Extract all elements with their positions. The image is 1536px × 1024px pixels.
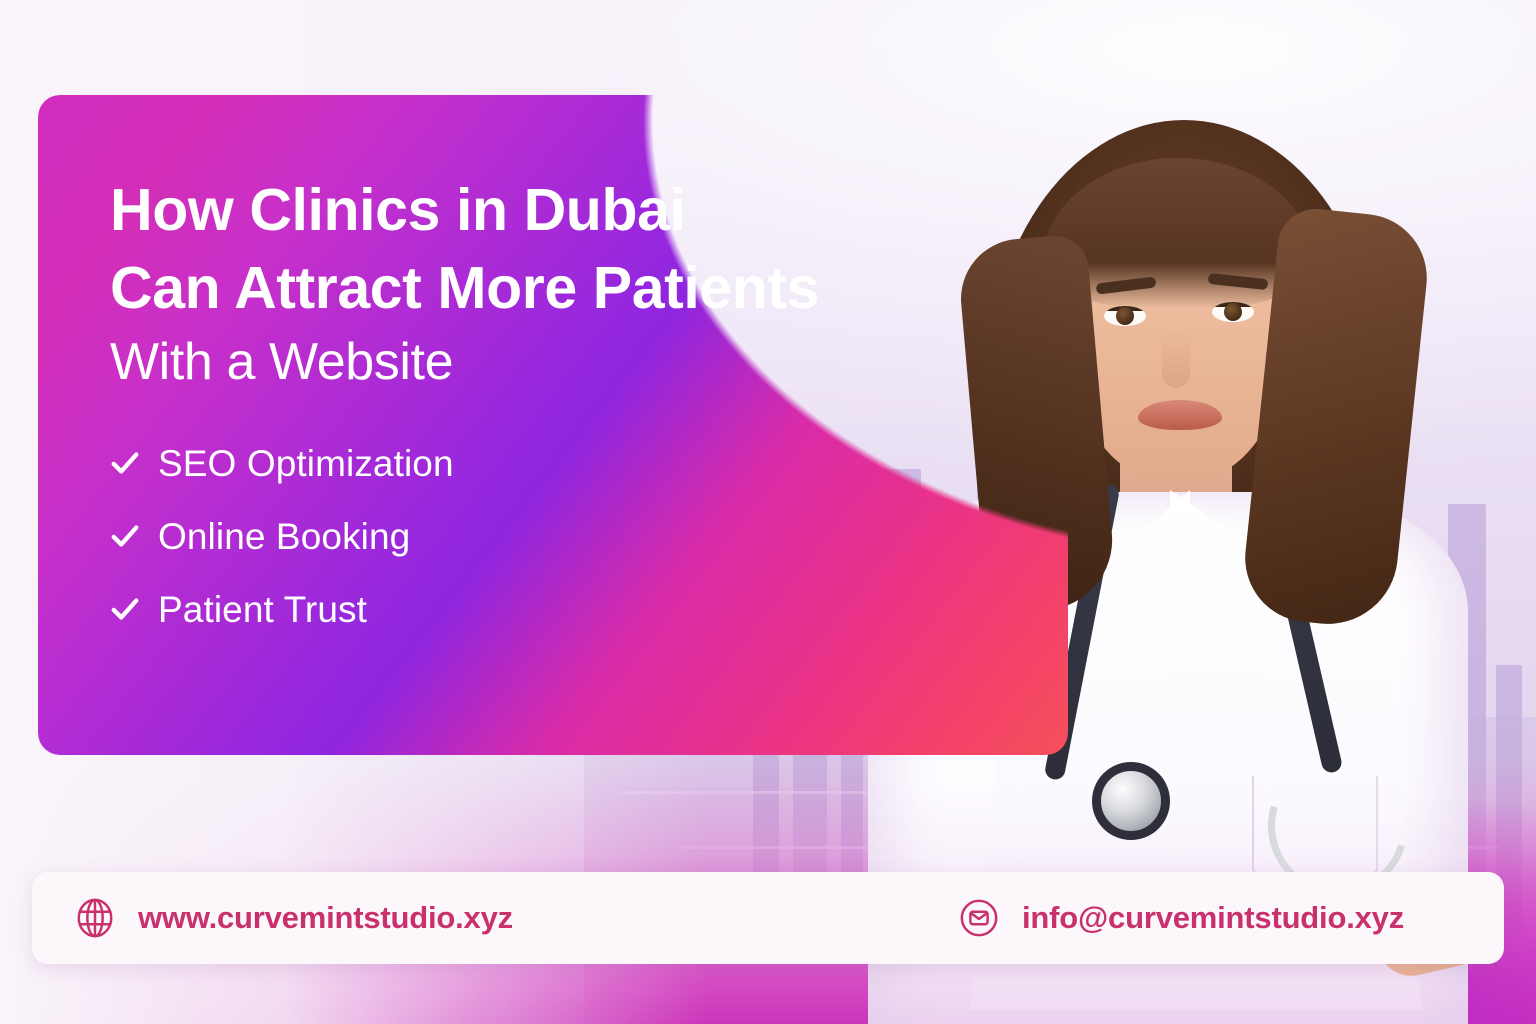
nose (1162, 330, 1190, 388)
list-item: Patient Trust (110, 591, 950, 628)
list-item: SEO Optimization (110, 445, 950, 482)
email-circle-icon (958, 897, 1000, 939)
feature-list: SEO Optimization Online Booking Patient … (110, 445, 950, 628)
list-item-label: Online Booking (158, 518, 410, 555)
list-item-label: SEO Optimization (158, 445, 454, 482)
check-icon (110, 521, 140, 551)
list-item-label: Patient Trust (158, 591, 367, 628)
check-icon (110, 594, 140, 624)
marketing-banner: How Clinics in Dubai Can Attract More Pa… (0, 0, 1536, 1024)
website-label: www.curvemintstudio.xyz (138, 900, 513, 936)
email-label: info@curvemintstudio.xyz (1022, 900, 1404, 936)
panel-content: How Clinics in Dubai Can Attract More Pa… (110, 171, 950, 664)
list-item: Online Booking (110, 518, 950, 555)
gradient-panel: How Clinics in Dubai Can Attract More Pa… (38, 95, 1068, 755)
stethoscope-chestpiece (1092, 762, 1170, 840)
lips (1138, 400, 1222, 430)
page-title: How Clinics in Dubai Can Attract More Pa… (110, 171, 950, 397)
eye-left (1104, 306, 1146, 326)
headline-line-1: How Clinics in Dubai (110, 171, 950, 249)
eye-right (1212, 302, 1254, 322)
website-link[interactable]: www.curvemintstudio.xyz (74, 897, 513, 939)
globe-icon (74, 897, 116, 939)
headline-line-3: With a Website (110, 328, 950, 397)
headline-line-2: Can Attract More Patients (110, 249, 950, 327)
contact-bar: www.curvemintstudio.xyz info@curvemintst… (32, 872, 1504, 964)
email-link[interactable]: info@curvemintstudio.xyz (958, 897, 1404, 939)
check-icon (110, 448, 140, 478)
